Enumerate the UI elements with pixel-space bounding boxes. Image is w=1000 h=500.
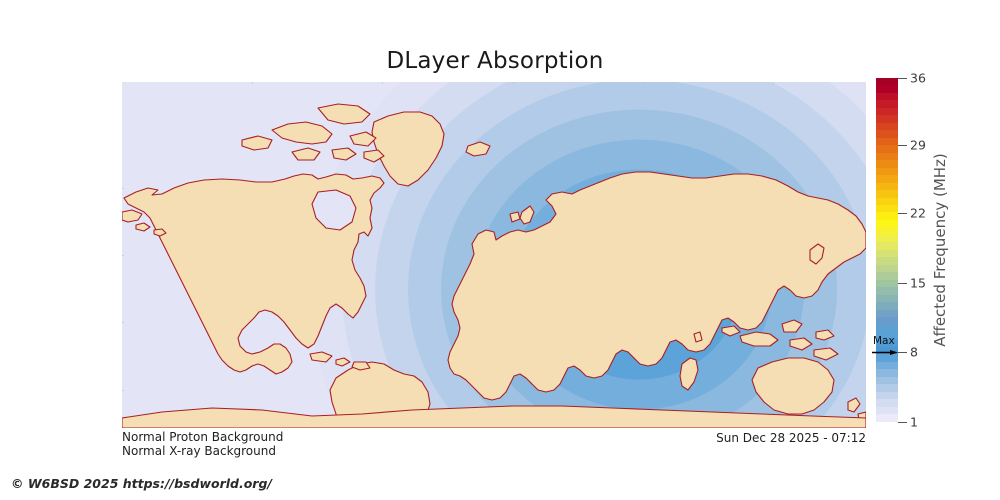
colorbar-band	[876, 183, 898, 190]
colorbar-band	[876, 227, 898, 234]
colorbar-band	[876, 100, 898, 107]
map-canvas	[122, 82, 866, 428]
colorbar-tick	[898, 422, 907, 423]
colorbar-band	[876, 78, 898, 85]
colorbar-tick-label: 36	[910, 71, 926, 86]
colorbar-band	[876, 220, 898, 227]
colorbar-band	[876, 85, 898, 92]
colorbar-band	[876, 205, 898, 212]
colorbar-band	[876, 168, 898, 175]
colorbar-band	[876, 93, 898, 100]
colorbar-axis-label-text: Affected Frequency (MHz)	[931, 153, 949, 347]
colorbar-tick-label: 8	[910, 344, 918, 359]
max-arrow-icon	[872, 350, 898, 355]
page-title: DLayer Absorption	[0, 48, 990, 74]
max-marker-label: Max	[873, 335, 895, 347]
colorbar-band	[876, 115, 898, 122]
colorbar-gradient[interactable]	[876, 78, 898, 422]
colorbar-tick	[898, 283, 907, 284]
world-map-panel[interactable]	[122, 82, 866, 428]
colorbar-tick-label: 22	[910, 205, 926, 220]
colorbar-band	[876, 392, 898, 399]
colorbar-band	[876, 138, 898, 145]
colorbar-band	[876, 123, 898, 130]
copyright-notice: © W6BSD 2025 https://bsdworld.org/	[11, 476, 272, 491]
colorbar-band	[876, 407, 898, 414]
colorbar-band	[876, 310, 898, 317]
colorbar-band	[876, 384, 898, 391]
colorbar-band	[876, 153, 898, 160]
colorbar-band	[876, 160, 898, 167]
colorbar-band	[876, 302, 898, 309]
colorbar-tick	[898, 213, 907, 214]
colorbar-band	[876, 235, 898, 242]
colorbar-band	[876, 295, 898, 302]
colorbar-band	[876, 145, 898, 152]
colorbar-band	[876, 272, 898, 279]
colorbar-band	[876, 324, 898, 331]
colorbar-band	[876, 414, 898, 421]
colorbar-band	[876, 265, 898, 272]
colorbar-band	[876, 377, 898, 384]
colorbar[interactable]: 3629221581	[876, 78, 898, 422]
max-marker: Max	[876, 352, 902, 353]
colorbar-band	[876, 362, 898, 369]
colorbar-band	[876, 108, 898, 115]
colorbar-band	[876, 369, 898, 376]
colorbar-band	[876, 198, 898, 205]
colorbar-axis-label: Affected Frequency (MHz)	[930, 78, 950, 422]
colorbar-tick-label: 1	[910, 415, 918, 430]
colorbar-band	[876, 250, 898, 257]
colorbar-band	[876, 354, 898, 361]
timestamp-label: Sun Dec 28 2025 - 07:12	[716, 431, 866, 445]
colorbar-band	[876, 399, 898, 406]
colorbar-band	[876, 242, 898, 249]
colorbar-band	[876, 175, 898, 182]
colorbar-tick	[898, 145, 907, 146]
colorbar-tick	[898, 78, 907, 79]
colorbar-band	[876, 212, 898, 219]
xray-background-status: Normal X-ray Background	[122, 444, 276, 458]
colorbar-band	[876, 280, 898, 287]
colorbar-band	[876, 130, 898, 137]
colorbar-band	[876, 287, 898, 294]
colorbar-band	[876, 317, 898, 324]
colorbar-tick-label: 29	[910, 137, 926, 152]
proton-background-status: Normal Proton Background	[122, 430, 283, 444]
colorbar-band	[876, 190, 898, 197]
colorbar-tick-label: 15	[910, 275, 926, 290]
colorbar-band	[876, 257, 898, 264]
